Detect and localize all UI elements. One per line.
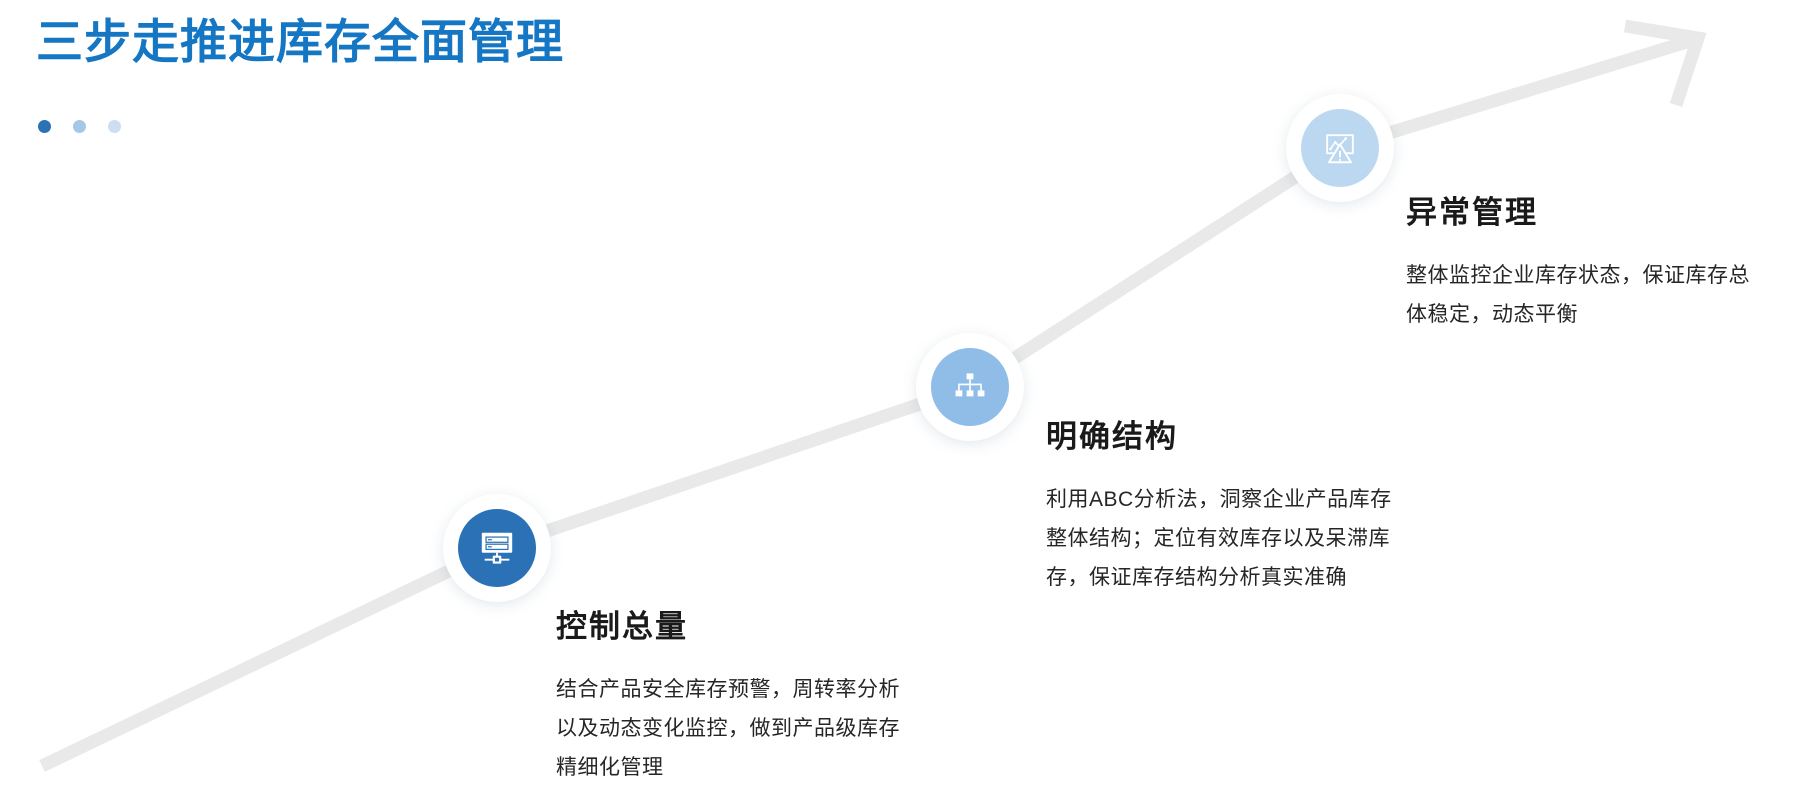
step-block-1: 控制总量 结合产品安全库存预警，周转率分析以及动态变化监控，做到产品级库存精细化…: [556, 608, 916, 788]
step-block-3: 异常管理 整体监控企业库存状态，保证库存总体稳定，动态平衡: [1406, 194, 1752, 335]
server-network-icon: [478, 529, 516, 567]
step-3-description: 整体监控企业库存状态，保证库存总体稳定，动态平衡: [1406, 257, 1752, 335]
progress-dot-1[interactable]: [38, 120, 51, 133]
slide-progress-dots: [38, 120, 121, 133]
step-2-description: 利用ABC分析法，洞察企业产品库存整体结构；定位有效库存以及呆滞库存，保证库存结…: [1046, 481, 1402, 598]
milestone-node-1-circle: [458, 509, 536, 587]
step-1-title: 控制总量: [556, 608, 916, 645]
step-block-2: 明确结构 利用ABC分析法，洞察企业产品库存整体结构；定位有效库存以及呆滞库存，…: [1046, 418, 1402, 598]
chart-alert-monitor-icon: [1321, 129, 1359, 167]
milestone-node-1[interactable]: [443, 494, 551, 602]
progress-dot-2[interactable]: [73, 120, 86, 133]
page-title: 三步走推进库存全面管理: [36, 14, 564, 70]
milestone-node-3-circle: [1301, 109, 1379, 187]
step-2-title: 明确结构: [1046, 418, 1402, 455]
milestone-node-3[interactable]: [1286, 94, 1394, 202]
slide-canvas: 三步走推进库存全面管理: [0, 0, 1798, 809]
milestone-node-2-circle: [931, 348, 1009, 426]
milestone-node-2[interactable]: [916, 333, 1024, 441]
step-3-title: 异常管理: [1406, 194, 1752, 231]
progress-dot-3[interactable]: [108, 120, 121, 133]
org-hierarchy-icon: [953, 370, 987, 404]
step-1-description: 结合产品安全库存预警，周转率分析以及动态变化监控，做到产品级库存精细化管理: [556, 671, 916, 788]
